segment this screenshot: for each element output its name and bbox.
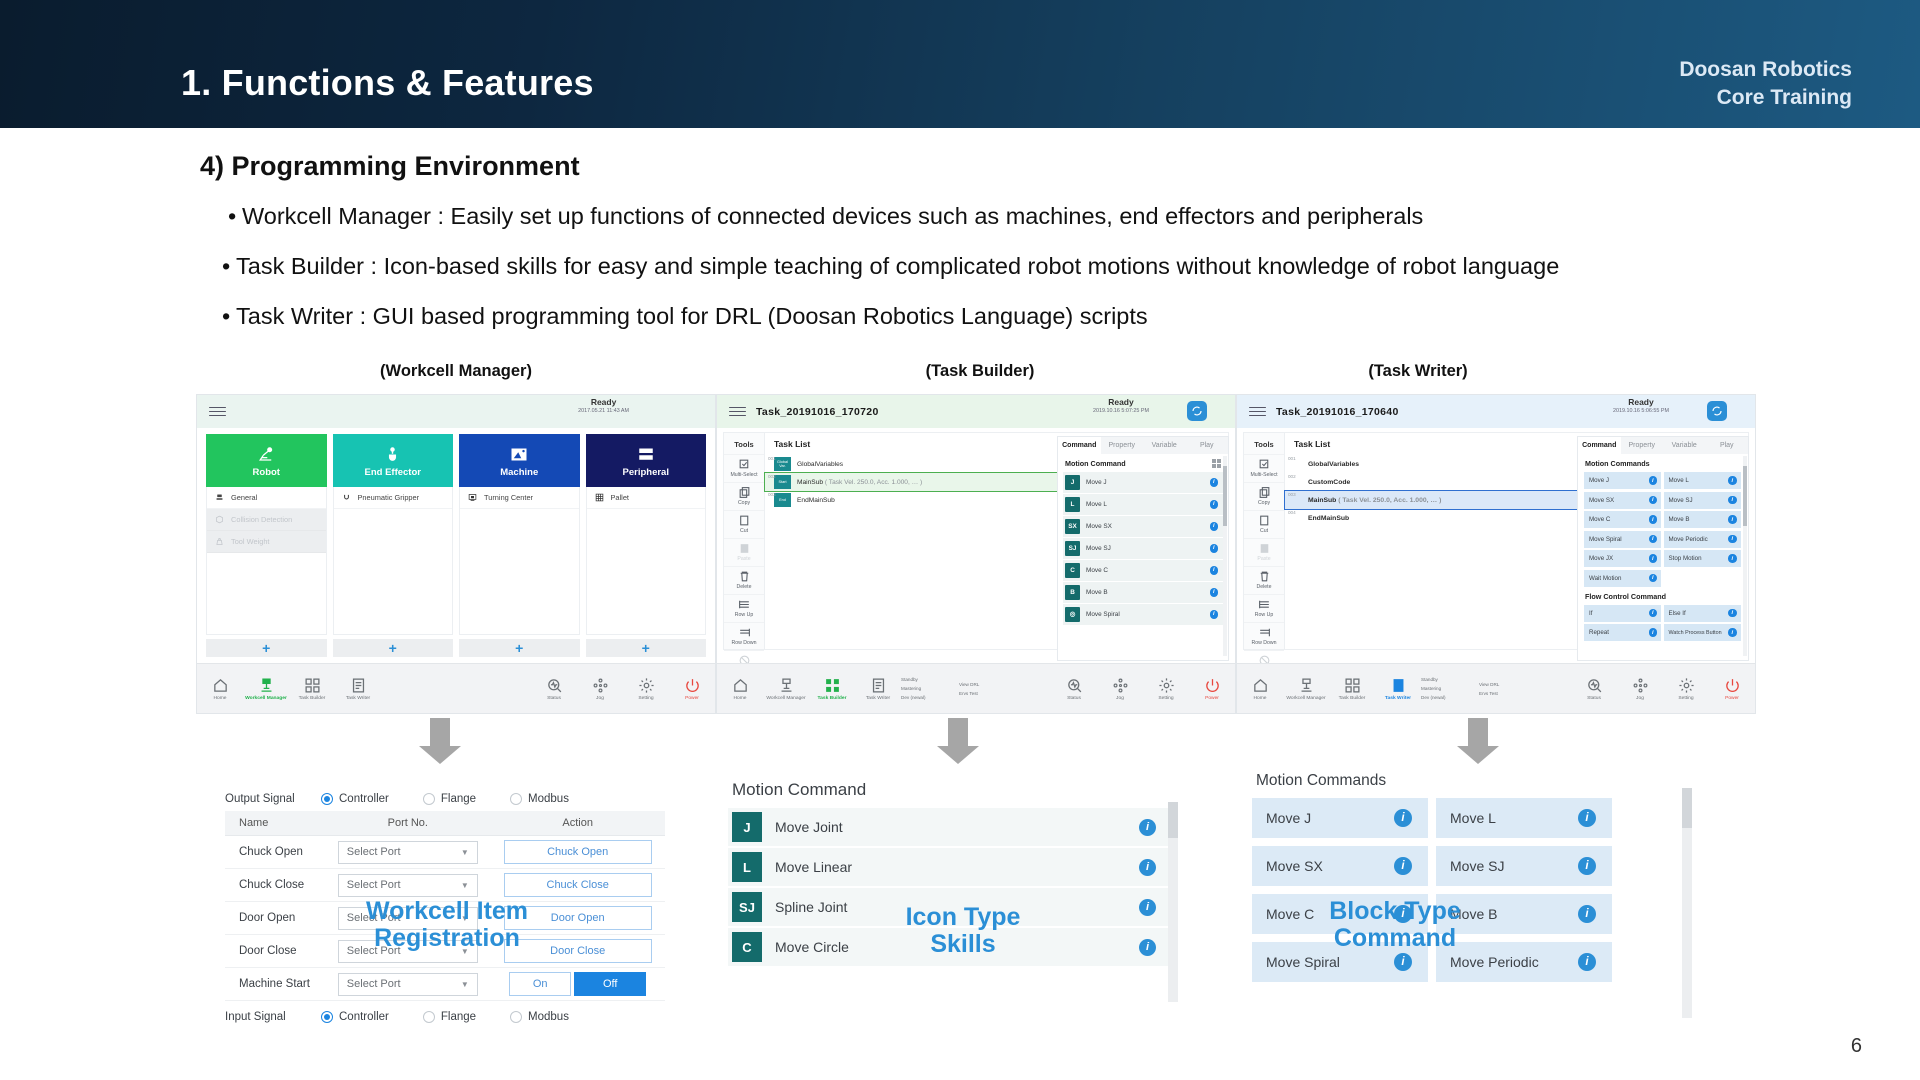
command-scrollbar[interactable]: [1743, 456, 1747, 656]
nav-label: Task Builder: [1339, 696, 1366, 701]
add-machine-button[interactable]: +: [459, 639, 580, 657]
block-move-l[interactable]: Move Li: [1664, 472, 1741, 489]
command-label: Move SX: [1086, 523, 1112, 530]
tools-header: Tools: [724, 436, 764, 454]
row-text: GlobalVariables: [797, 461, 843, 468]
tool-row-down[interactable]: Row Down: [724, 622, 764, 650]
card-item-general[interactable]: General: [207, 487, 326, 509]
info-icon[interactable]: i: [1210, 478, 1219, 487]
block-label: Watch Process Button: [1669, 630, 1722, 636]
input-option-modbus[interactable]: Modbus: [510, 1011, 569, 1023]
tool-cut[interactable]: Cut: [724, 510, 764, 538]
tool-label: Row Up: [735, 612, 753, 618]
card-robot-label: Robot: [253, 467, 280, 478]
block-label: Move SJ: [1450, 858, 1504, 874]
status-label: Ready: [1093, 398, 1149, 408]
info-icon[interactable]: i: [1139, 899, 1156, 916]
info-icon[interactable]: i: [1649, 574, 1658, 583]
block-move-periodic[interactable]: Move Periodici: [1664, 531, 1741, 548]
info-icon[interactable]: i: [1210, 610, 1219, 619]
row-badge: Global Var.: [774, 457, 791, 471]
command-move-sx[interactable]: SXMove SXi: [1063, 516, 1223, 537]
info-icon[interactable]: i: [1728, 609, 1737, 618]
output-option-controller[interactable]: Controller: [321, 793, 389, 805]
home-icon: [732, 677, 749, 694]
block-label: Move Spiral: [1266, 954, 1340, 970]
status-block: Ready 2019.10.16 5:06:55 PM: [1613, 398, 1669, 414]
nav-label: Home: [213, 696, 226, 701]
move-linear-icon: L: [732, 852, 762, 882]
info-icon[interactable]: i: [1728, 476, 1737, 485]
workcell-icon: [1298, 677, 1315, 694]
command-label: Move L: [1086, 501, 1107, 508]
block-label: Move SX: [1589, 497, 1614, 504]
hamburger-menu-icon[interactable]: [1249, 404, 1266, 419]
tab-command[interactable]: Command: [1578, 437, 1621, 454]
row-subtext: ( Task Vel. 250.0, Acc. 1.000, … ): [825, 479, 922, 486]
block-if[interactable]: Ifi: [1584, 605, 1661, 622]
add-robot-button[interactable]: +: [206, 639, 327, 657]
row-down-icon: [1258, 626, 1271, 639]
tab-play[interactable]: Play: [1706, 437, 1749, 454]
block-label: Move Periodic: [1669, 536, 1708, 543]
jog-icon: [1632, 677, 1649, 694]
radio-icon[interactable]: [510, 1011, 522, 1023]
card-item-label: General: [231, 493, 257, 502]
block-watch-process-button[interactable]: Watch Process Buttoni: [1664, 624, 1741, 641]
row-port-cell: Select Port▼: [325, 968, 490, 1001]
input-option-flange[interactable]: Flange: [423, 1011, 476, 1023]
nav-view-drl-label[interactable]: View DRL: [1479, 681, 1537, 690]
nav-label: Task Builder: [818, 696, 847, 701]
block-label: Wait Motion: [1589, 575, 1621, 582]
nav-task-writer[interactable]: Task Writer: [855, 677, 901, 701]
input-option-controller[interactable]: Controller: [321, 1011, 389, 1023]
info-icon[interactable]: i: [1578, 809, 1596, 827]
nav-workcell-manager[interactable]: Workcell Manager: [763, 677, 809, 701]
tool-paste[interactable]: Paste: [1244, 538, 1284, 566]
gear-icon: [638, 677, 655, 694]
nav-status-texts: Standby Mastering Dev (newal): [1421, 674, 1479, 702]
block-move-l[interactable]: Move Li: [1436, 798, 1612, 838]
output-option-flange[interactable]: Flange: [423, 793, 476, 805]
chuck-close-button[interactable]: Chuck Close: [504, 873, 652, 897]
block-move-c[interactable]: Move Ci: [1584, 511, 1661, 528]
col-port-no: Port No.: [325, 811, 490, 836]
row-text: GlobalVariables: [1308, 461, 1359, 468]
row-action-cell: Chuck Open: [490, 836, 665, 869]
card-item-tool-weight[interactable]: Tool Weight: [207, 531, 326, 553]
table-row: Chuck Open Select Port▼ Chuck Open: [225, 836, 665, 869]
port-select[interactable]: Select Port▼: [338, 841, 478, 864]
tool-row-up[interactable]: Row Up: [1244, 594, 1284, 622]
chuck-open-button[interactable]: Chuck Open: [504, 840, 652, 864]
info-icon[interactable]: i: [1210, 544, 1219, 553]
off-button[interactable]: Off: [574, 972, 646, 996]
card-item-pneumatic-gripper[interactable]: Pneumatic Gripper: [334, 487, 453, 509]
tool-multi-select[interactable]: Multi-Select: [724, 454, 764, 482]
card-item-turning-center[interactable]: Turning Center: [460, 487, 579, 509]
tool-label: Multi-Select: [730, 472, 757, 478]
card-robot[interactable]: Robot General Collision Detection Tool W…: [206, 434, 327, 657]
block-move-j[interactable]: Move Ji: [1584, 472, 1661, 489]
nav-label: Workcell Manager: [766, 696, 805, 701]
command-move-l[interactable]: LMove Li: [1063, 494, 1223, 515]
move-sj-icon: SJ: [1065, 541, 1080, 556]
writer-command-pane: Command Property Variable Play Motion Co…: [1577, 436, 1749, 661]
info-icon[interactable]: i: [1728, 535, 1737, 544]
nav-status[interactable]: Status: [531, 677, 577, 701]
block-move-b[interactable]: Move Bi: [1664, 511, 1741, 528]
page-title: 1. Functions & Features: [181, 62, 594, 104]
tab-property[interactable]: Property: [1621, 437, 1664, 454]
status-label: Ready: [578, 398, 629, 408]
card-end-effector[interactable]: End Effector Pneumatic Gripper +: [333, 434, 454, 657]
row-name: Machine Start: [225, 968, 325, 1001]
nav-label: Task Builder: [299, 696, 326, 701]
nav-label: Jog: [1116, 696, 1124, 701]
nav-label: Jog: [596, 696, 604, 701]
card-item-pallet[interactable]: Pallet: [587, 487, 706, 509]
status-block: Ready 2017.05.21 11:43 AM: [578, 398, 629, 414]
workcell-manager-screenshot: Ready 2017.05.21 11:43 AM Robot General …: [196, 394, 716, 714]
nav-task-builder[interactable]: Task Builder: [289, 677, 335, 701]
row-name: Door Close: [225, 935, 325, 968]
grid-view-icon[interactable]: [1212, 459, 1221, 468]
block-move-jx[interactable]: Move JXi: [1584, 550, 1661, 567]
nav-task-builder[interactable]: Task Builder: [809, 677, 855, 701]
row-up-icon: [1258, 598, 1271, 611]
card-machine[interactable]: Machine Turning Center +: [459, 434, 580, 657]
port-value: Select Port: [347, 879, 401, 891]
sync-icon[interactable]: [1707, 401, 1727, 421]
block-move-sx[interactable]: Move SXi: [1252, 846, 1428, 886]
skill-move-joint[interactable]: J Move Joint i: [728, 808, 1178, 846]
nav-status-texts: Standby Mastering Dev (newal): [901, 674, 959, 702]
info-icon[interactable]: i: [1210, 500, 1219, 509]
command-move-sj[interactable]: SJMove SJi: [1063, 538, 1223, 559]
tool-row-up[interactable]: Row Up: [724, 594, 764, 622]
builder-command-pane: Command Property Variable Play Motion Co…: [1057, 436, 1229, 661]
block-grid: Move Ji Move Li Move SXi Move SJi Move C…: [1252, 798, 1692, 982]
row-badge: End: [774, 493, 791, 507]
brand-block: Doosan Robotics Core Training: [1679, 56, 1852, 111]
info-icon[interactable]: i: [1649, 515, 1658, 524]
writer-task-name: Task_20191016_170640: [1276, 406, 1399, 418]
status-icon: [546, 677, 563, 694]
multiselect-icon: [1258, 458, 1271, 471]
nav-power[interactable]: Power: [669, 677, 715, 701]
tool-label: Paste: [737, 556, 750, 562]
skills-scrollbar[interactable]: [1168, 802, 1178, 1002]
info-icon[interactable]: i: [1394, 857, 1412, 875]
block-move-sj[interactable]: Move SJi: [1664, 492, 1741, 509]
tab-play[interactable]: Play: [1186, 437, 1229, 454]
nav-jog[interactable]: Jog: [1617, 677, 1663, 701]
nav-workcell-manager[interactable]: Workcell Manager: [1283, 677, 1329, 701]
block-label: If: [1589, 610, 1592, 617]
block-move-sx[interactable]: Move SXi: [1584, 492, 1661, 509]
nav-jog[interactable]: Jog: [1097, 677, 1143, 701]
output-option-modbus[interactable]: Modbus: [510, 793, 569, 805]
nav-home[interactable]: Home: [717, 677, 763, 701]
tab-variable[interactable]: Variable: [1143, 437, 1186, 454]
radio-icon[interactable]: [423, 1011, 435, 1023]
gripper-icon: [384, 444, 401, 465]
row-number: 001: [1288, 456, 1296, 461]
row-number: 001: [768, 456, 776, 461]
nav-jog[interactable]: Jog: [577, 677, 623, 701]
document-icon: [870, 677, 887, 694]
writer-flow-section-title: Flow Control Command: [1578, 587, 1748, 605]
nav-dev-label: Dev (newal): [901, 694, 959, 703]
block-wait-motion[interactable]: Wait Motioni: [1584, 570, 1661, 587]
info-icon[interactable]: i: [1394, 809, 1412, 827]
block-label: Move C: [1589, 516, 1610, 523]
tool-copy[interactable]: Copy: [724, 482, 764, 510]
move-circle-icon: C: [732, 932, 762, 962]
move-sx-icon: SX: [1065, 519, 1080, 534]
block-label: Move B: [1669, 516, 1690, 523]
info-icon[interactable]: i: [1139, 819, 1156, 836]
home-icon: [1252, 677, 1269, 694]
grid-small-icon: [594, 492, 605, 503]
tool-label: Cut: [1260, 528, 1268, 534]
info-icon[interactable]: i: [1210, 522, 1219, 531]
row-action-cell: OnOff: [490, 968, 665, 1001]
annotation-icon-type-skills: Icon Type Skills: [878, 904, 1048, 957]
info-icon[interactable]: i: [1728, 496, 1737, 505]
card-item-label: Tool Weight: [231, 537, 269, 546]
command-move-b[interactable]: BMove Bi: [1063, 582, 1223, 603]
tool-cut[interactable]: Cut: [1244, 510, 1284, 538]
nav-drl-texts: View DRL Ervs Test: [959, 679, 1017, 698]
task-builder-screenshot: Task_20191016_170720 Ready 2019.10.16 5:…: [716, 394, 1236, 714]
card-end-effector-body: Pneumatic Gripper: [333, 487, 454, 635]
info-icon[interactable]: i: [1649, 628, 1658, 637]
command-move-j[interactable]: JMove Ji: [1063, 472, 1223, 493]
info-icon[interactable]: i: [1578, 905, 1596, 923]
info-icon[interactable]: i: [1139, 939, 1156, 956]
tool-label: Row Up: [1255, 612, 1273, 618]
info-icon[interactable]: i: [1210, 566, 1219, 575]
row-number: 002: [768, 474, 776, 479]
workcell-topbar: Ready 2017.05.21 11:43 AM: [197, 395, 715, 428]
block-stop-motion[interactable]: Stop Motioni: [1664, 550, 1741, 567]
nav-label: Workcell Manager: [245, 696, 287, 701]
row-number: 002: [1288, 474, 1296, 479]
tab-variable[interactable]: Variable: [1663, 437, 1706, 454]
motion-commands-title: Motion Commands: [1252, 770, 1692, 798]
nav-label: Setting: [1158, 696, 1173, 701]
nav-task-writer[interactable]: Task Writer: [1375, 677, 1421, 701]
add-peripheral-button[interactable]: +: [586, 639, 707, 657]
info-icon[interactable]: i: [1728, 628, 1737, 637]
radio-icon[interactable]: [321, 793, 333, 805]
block-scrollbar[interactable]: [1682, 788, 1692, 1018]
tool-label: Copy: [1258, 500, 1270, 506]
tools-header: Tools: [1244, 436, 1284, 454]
block-label: Move J: [1266, 810, 1311, 826]
jog-icon: [1112, 677, 1129, 694]
radio-icon[interactable]: [321, 1011, 333, 1023]
row-name: Chuck Open: [225, 836, 325, 869]
nav-workcell-manager[interactable]: Workcell Manager: [243, 677, 289, 701]
info-icon[interactable]: i: [1578, 953, 1596, 971]
move-spiral-icon: ◎: [1065, 607, 1080, 622]
card-peripheral[interactable]: Peripheral Pallet +: [586, 434, 707, 657]
info-icon[interactable]: i: [1139, 859, 1156, 876]
nav-setting[interactable]: Setting: [623, 677, 669, 701]
nav-setting[interactable]: Setting: [1663, 677, 1709, 701]
block-repeat[interactable]: Repeati: [1584, 624, 1661, 641]
info-icon[interactable]: i: [1649, 476, 1658, 485]
sync-icon[interactable]: [1187, 401, 1207, 421]
input-signal-label: Input Signal: [225, 1011, 321, 1023]
power-icon: [684, 677, 701, 694]
command-move-spiral[interactable]: ◎Move Spirali: [1063, 604, 1223, 625]
info-icon[interactable]: i: [1649, 554, 1658, 563]
tool-delete[interactable]: Delete: [1244, 566, 1284, 594]
block-label: Move JX: [1589, 555, 1613, 562]
move-l-icon: L: [1065, 497, 1080, 512]
machine-start-toggle: OnOff: [509, 972, 646, 996]
tool-multi-select[interactable]: Multi-Select: [1244, 454, 1284, 482]
robot-small-icon: [214, 492, 225, 503]
info-icon[interactable]: i: [1728, 554, 1737, 563]
tool-delete[interactable]: Delete: [724, 566, 764, 594]
command-label: Move C: [1086, 567, 1108, 574]
info-icon[interactable]: i: [1578, 857, 1596, 875]
info-icon[interactable]: i: [1394, 953, 1412, 971]
tab-property[interactable]: Property: [1101, 437, 1144, 454]
hamburger-menu-icon[interactable]: [209, 404, 226, 419]
move-b-icon: B: [1065, 585, 1080, 600]
nav-status[interactable]: Status: [1051, 677, 1097, 701]
nav-standby-label: Standby: [1421, 676, 1479, 685]
slide-header: 1. Functions & Features Doosan Robotics …: [0, 0, 1920, 128]
skill-label: Move Circle: [775, 939, 849, 955]
cube-icon: [214, 514, 225, 525]
card-item-label: Collision Detection: [231, 515, 292, 524]
card-end-effector-head[interactable]: End Effector: [333, 434, 454, 487]
card-peripheral-head[interactable]: Peripheral: [586, 434, 707, 487]
brand-line-2: Core Training: [1679, 84, 1852, 112]
block-else-if[interactable]: Else Ifi: [1664, 605, 1741, 622]
nav-setting[interactable]: Setting: [1143, 677, 1189, 701]
port-select[interactable]: Select Port▼: [338, 874, 478, 897]
port-value: Select Port: [347, 978, 401, 990]
card-machine-body: Turning Center: [459, 487, 580, 635]
blocks-icon: [304, 677, 321, 694]
workcell-cards: Robot General Collision Detection Tool W…: [197, 428, 715, 657]
option-label: Modbus: [528, 1011, 569, 1023]
blocks-icon: [1344, 677, 1361, 694]
card-peripheral-body: Pallet: [586, 487, 707, 635]
nav-view-drl-label[interactable]: View DRL: [959, 681, 1017, 690]
block-label: Move Periodic: [1450, 954, 1539, 970]
copy-icon: [1258, 486, 1271, 499]
port-select[interactable]: Select Port▼: [338, 973, 478, 996]
writer-flow-blocks: Ifi Else Ifi Repeati Watch Process Butto…: [1578, 605, 1748, 642]
bullet-workcell-manager: •Workcell Manager : Easily set up functi…: [228, 203, 1423, 230]
builder-bottom-nav: Home Workcell Manager Task Builder Task …: [717, 663, 1235, 713]
builder-task-name: Task_20191016_170720: [756, 406, 879, 418]
block-move-spiral[interactable]: Move Spirali: [1584, 531, 1661, 548]
info-icon[interactable]: i: [1649, 609, 1658, 618]
nav-ervs-test-label[interactable]: Ervs Test: [1479, 690, 1537, 699]
nav-label: Power: [1725, 696, 1739, 701]
radio-icon[interactable]: [510, 793, 522, 805]
tool-copy[interactable]: Copy: [1244, 482, 1284, 510]
nav-label: Home: [1253, 696, 1266, 701]
radio-icon[interactable]: [423, 793, 435, 805]
card-item-collision-detection[interactable]: Collision Detection: [207, 509, 326, 531]
row-text: EndMainSub: [1308, 515, 1349, 522]
hamburger-menu-icon[interactable]: [729, 404, 746, 419]
nav-label: Setting: [638, 696, 653, 701]
tool-row-down[interactable]: Row Down: [1244, 622, 1284, 650]
nav-status[interactable]: Status: [1571, 677, 1617, 701]
add-end-effector-button[interactable]: +: [333, 639, 454, 657]
option-label: Modbus: [528, 793, 569, 805]
info-icon[interactable]: i: [1728, 515, 1737, 524]
skill-label: Move Linear: [775, 859, 852, 875]
arrow-down-writer: [1457, 718, 1499, 764]
on-button[interactable]: On: [509, 972, 571, 996]
bullet-task-builder: •Task Builder : Icon-based skills for ea…: [222, 253, 1559, 280]
skill-move-linear[interactable]: L Move Linear i: [728, 848, 1178, 886]
command-move-c[interactable]: CMove Ci: [1063, 560, 1223, 581]
power-icon: [1204, 677, 1221, 694]
info-icon[interactable]: i: [1649, 496, 1658, 505]
writer-motion-section-title: Motion Commands: [1578, 454, 1748, 472]
card-machine-head[interactable]: Machine: [459, 434, 580, 487]
block-label: Move J: [1589, 477, 1609, 484]
nav-power[interactable]: Power: [1709, 677, 1755, 701]
nav-label: Status: [1067, 696, 1081, 701]
arrow-down-builder: [937, 718, 979, 764]
row-number: 004: [1288, 510, 1296, 515]
nav-task-writer[interactable]: Task Writer: [335, 677, 381, 701]
bullet-text: Workcell Manager : Easily set up functio…: [242, 203, 1423, 229]
caption-task-writer: (Task Writer): [1318, 362, 1518, 381]
robot-arm-icon: [257, 444, 276, 465]
nav-home[interactable]: Home: [1237, 677, 1283, 701]
nav-task-builder[interactable]: Task Builder: [1329, 677, 1375, 701]
block-move-j[interactable]: Move Ji: [1252, 798, 1428, 838]
builder-command-section-title: Motion Command: [1058, 454, 1228, 472]
card-robot-head[interactable]: Robot: [206, 434, 327, 487]
nav-label: Workcell Manager: [1286, 696, 1325, 701]
nav-label: Setting: [1678, 696, 1693, 701]
nav-label: Status: [1587, 696, 1601, 701]
block-move-sj[interactable]: Move SJi: [1436, 846, 1612, 886]
info-icon[interactable]: i: [1649, 535, 1658, 544]
arrow-down-workcell: [419, 718, 461, 764]
tool-paste[interactable]: Paste: [724, 538, 764, 566]
nav-home[interactable]: Home: [197, 677, 243, 701]
tab-command[interactable]: Command: [1058, 437, 1101, 454]
info-icon[interactable]: i: [1210, 588, 1219, 597]
command-scrollbar[interactable]: [1223, 456, 1227, 656]
nav-mastering-label: Mastering: [1421, 685, 1479, 694]
motion-command-title: Motion Command: [728, 778, 1178, 808]
nav-power[interactable]: Power: [1189, 677, 1235, 701]
nav-ervs-test-label[interactable]: Ervs Test: [959, 690, 1017, 699]
power-icon: [1724, 677, 1741, 694]
nav-drl-texts: View DRL Ervs Test: [1479, 679, 1537, 698]
